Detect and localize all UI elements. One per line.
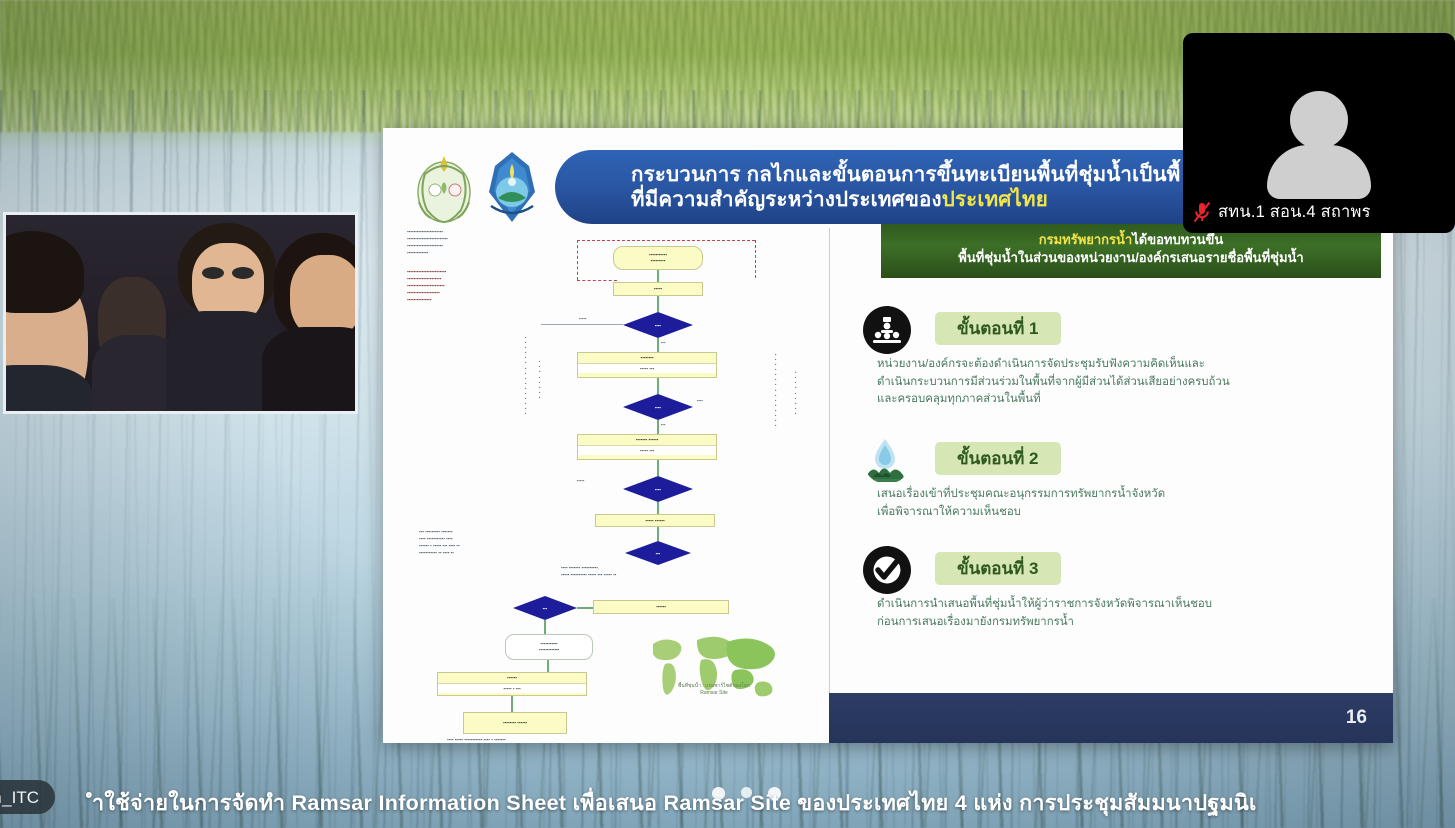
step-3-chip: ขั้นตอนที่ 3 — [935, 552, 1061, 585]
step-1-label: ขั้นตอนที่ 1 — [957, 315, 1039, 342]
flow-side-label-2: ▪▪▪▪▪ ▪▪▪ — [537, 308, 542, 400]
process-flowchart: ▪▪▪▪▪▪▪▪▪▪▪▪▪▪▪▪▪▪▪▪▪▪▪▪▪▪▪▪▪▪▪▪▪▪▪▪▪▪▪▪… — [401, 228, 821, 728]
flow-node-6: ▪▪▪▪▪▪ — [593, 600, 729, 614]
flow-label-no-2: ▪▪▪▪ — [697, 398, 703, 403]
water-droplet-wetland-icon — [863, 436, 911, 484]
flow-decision-4: ▪▪▪ — [625, 541, 691, 565]
flow-arrow-4 — [657, 378, 659, 394]
flow-dashed-top — [577, 240, 755, 241]
flow-node-8: ▪▪▪▪▪▪▪▪ ▪▪▪▪▪▪ — [463, 712, 567, 734]
flow-node-7: ▪▪▪▪▪▪ ▪▪▪▪▪ ▪ ▪▪▪ — [437, 672, 587, 696]
step-3-label: ขั้นตอนที่ 3 — [957, 555, 1039, 582]
flowchart-note-top: ▪▪▪▪▪▪▪▪▪▪▪▪▪▪▪▪▪▪▪▪▪▪▪▪▪▪▪▪▪▪▪▪▪▪▪▪▪▪▪▪… — [407, 228, 527, 256]
participant-name: สทน.1 สอน.4 สถาพร — [1218, 199, 1371, 225]
flow-label-yes-1: ▪▪▪ — [661, 340, 665, 345]
flowchart-note-top-red: ▪▪▪▪▪▪▪▪▪▪▪▪▪▪▪▪▪▪▪▪▪▪▪▪▪▪▪▪▪▪▪▪▪▪▪▪▪▪▪▪… — [407, 268, 527, 304]
flow-node-7-top: ▪▪▪▪▪▪ — [438, 673, 586, 684]
participant-footer: สทน.1 สอน.4 สถาพร — [1193, 199, 1371, 225]
slide-footer-bar: 16 — [829, 693, 1393, 743]
department-banner-highlight: กรมทรัพยากรน้ำ — [1039, 232, 1133, 247]
flow-node-2: ▪▪▪▪▪ — [613, 282, 703, 296]
flow-side-label-1: ▪▪▪▪▪▪▪▪▪▪ ▪▪▪▪▪▪ — [523, 304, 528, 416]
slide-title-line2-pre: ที่มีความสำคัญระหว่างประเทศของ — [631, 188, 942, 211]
step-2-body: เสนอเรื่องเข้าที่ประชุมคณะอนุกรรมการทรัพ… — [863, 486, 1381, 521]
attendee-3-glasses-left — [202, 267, 224, 279]
slide-page-number: 16 — [1346, 707, 1367, 729]
check-circle-icon — [863, 546, 911, 594]
attendee-4-shoulders — [262, 327, 358, 414]
flow-arrow-7 — [657, 502, 659, 514]
flow-decision-1: ▪▪▪▪ — [623, 312, 693, 338]
attendee-1-hair — [3, 231, 84, 313]
flow-arrow-11 — [547, 660, 549, 672]
step-1-body: หน่วยงาน/องค์กรจะต้องดำเนินการจัดประชุมร… — [863, 356, 1381, 409]
flow-arrow-6 — [657, 460, 659, 476]
attendee-3-glasses-right — [232, 267, 254, 279]
flow-node-7-bottom: ▪▪▪▪▪ ▪ ▪▪▪ — [438, 684, 586, 694]
flow-dashed-in — [577, 280, 617, 281]
flow-dashed-right — [755, 240, 756, 278]
ministry-natural-resources-emblem — [481, 148, 543, 228]
flow-arrow-1 — [657, 270, 659, 282]
flow-side-label-3: ▪▪▪▪▪▪▪▪ ▪▪▪▪▪▪▪ — [773, 308, 778, 428]
flow-side-label-4: ▪▪▪▪▪ ▪▪▪▪ — [793, 306, 798, 416]
step-2-header: ขั้นตอนที่ 2 — [863, 436, 1381, 484]
step-3-body: ดำเนินการนำเสนอพื้นที่ชุ่มน้ำให้ผู้ว่ารา… — [863, 596, 1381, 631]
step-2: ขั้นตอนที่ 2 เสนอเรื่องเข้าที่ประชุมคณะอ… — [863, 436, 1381, 521]
world-map-caption-line2: Ramsar Site — [639, 690, 789, 697]
flow-arrow-10 — [544, 620, 546, 634]
attendees-video-frame — [6, 215, 355, 411]
flow-node-start: ▪▪▪▪▪▪▪▪▪▪▪▪▪▪▪▪▪▪▪▪ — [613, 246, 703, 270]
caption-text: ำใช้จ่ายในการจัดทำ Ramsar Information Sh… — [92, 786, 1257, 820]
flow-arrow-9 — [577, 607, 593, 609]
flow-node-4: ▪▪▪▪▪▪▪ ▪▪▪▪▪▪ ▪▪▪▪▪ ▪▪▪ — [577, 434, 717, 460]
flow-label-no-1: ▪▪▪▪▪ — [579, 316, 586, 321]
flow-node-4-top: ▪▪▪▪▪▪▪ ▪▪▪▪▪▪ — [578, 435, 716, 446]
flowchart-note-left-mid: ▪▪▪ ▪▪▪▪▪▪▪▪▪ ▪▪▪▪▪▪▪▪▪▪▪ ▪▪▪▪▪▪▪▪▪▪▪ ▪▪… — [419, 528, 537, 556]
slide-column-divider — [829, 228, 830, 730]
microphone-muted-icon[interactable] — [1193, 201, 1211, 223]
avatar — [1263, 91, 1375, 199]
flow-arrow-2 — [657, 296, 659, 312]
department-banner-rest: ได้ขอทบทวนขึ้น — [1132, 232, 1223, 247]
department-banner-line2: พื้นที่ชุ่มน้ำในส่วนของหน่วยงาน/องค์กรเส… — [958, 250, 1303, 265]
step-2-label: ขั้นตอนที่ 2 — [957, 445, 1039, 472]
step-3-header: ขั้นตอนที่ 3 — [863, 546, 1381, 594]
flowchart-footnote: ▪▪▪▪ ▪▪▪▪▪ ▪▪▪▪▪▪▪▪▪▪▪ ▪▪▪▪ ▪ ▪▪▪▪▪▪▪ — [447, 736, 617, 743]
step-2-chip: ขั้นตอนที่ 2 — [935, 442, 1061, 475]
flow-arrow-8 — [657, 527, 659, 541]
flow-arrow-12 — [511, 696, 513, 712]
participant-tile-self[interactable]: สทน.1 สอน.4 สถาพร — [1183, 33, 1455, 233]
slide-title-line1: กระบวนการ กลไกและขั้นตอนการขึ้นทะเบียนพื… — [631, 163, 1180, 186]
caption-strip: ำใช้จ่ายในการจัดทำ Ramsar Information Sh… — [0, 770, 1455, 828]
flowchart-note-mid: ▪▪▪▪ ▪▪▪▪▪▪▪ ▪▪▪▪▪▪▪▪▪▪,▪▪▪▪▪ ▪▪▪▪▪▪▪▪▪▪… — [561, 564, 707, 578]
flow-node-3-top: ▪▪▪▪▪▪▪▪ — [578, 353, 716, 364]
step-3: ขั้นตอนที่ 3 ดำเนินการนำเสนอพื้นที่ชุ่มน… — [863, 546, 1381, 631]
flow-arrow-5 — [657, 420, 659, 434]
screen-share-viewport: กระบวนการ กลไกและขั้นตอนการขึ้นทะเบียนพื… — [0, 0, 1455, 828]
flow-line-left-1 — [541, 324, 623, 325]
flow-node-5: ▪▪▪▪▪ ▪▪▪▪▪▪ — [595, 514, 715, 527]
slide-title: กระบวนการ กลไกและขั้นตอนการขึ้นทะเบียนพื… — [631, 162, 1180, 212]
name-badge: รึกษา_ITC — [0, 780, 55, 814]
step-1-header: ขั้นตอนที่ 1 — [863, 306, 1381, 354]
flow-decision-3: ▪▪▪▪ — [623, 476, 693, 502]
flow-arrow-3 — [657, 338, 659, 352]
flow-dashed-left — [577, 240, 578, 280]
garuda-emblem — [413, 148, 475, 228]
flow-node-4-bottom: ▪▪▪▪▪ ▪▪▪ — [578, 446, 716, 456]
flow-node-3-bottom: ▪▪▪▪▪ ▪▪▪ — [578, 364, 716, 374]
flow-label-yes-2: ▪▪▪ — [661, 422, 665, 427]
avatar-head — [1290, 91, 1348, 149]
ministry-emblems — [409, 144, 549, 234]
flow-node-3: ▪▪▪▪▪▪▪▪ ▪▪▪▪▪ ▪▪▪ — [577, 352, 717, 378]
flow-label-no-3: ▪▪▪▪▪ — [577, 478, 584, 483]
world-map-caption: พื้นที่ชุ่มน้ำ : แรมซาร์ไซต์ของโลก Ramsa… — [639, 683, 789, 696]
step-1-chip: ขั้นตอนที่ 1 — [935, 312, 1061, 345]
flow-decision-2: ▪▪▪▪ — [623, 394, 693, 420]
flow-decision-5: ▪▪▪ — [513, 596, 577, 620]
slide-title-highlight: ประเทศไทย — [942, 188, 1048, 211]
flow-node-pill: ▪▪▪▪▪▪▪▪▪▪▪▪▪▪▪▪▪▪▪▪▪▪▪▪ — [505, 634, 593, 660]
avatar-body — [1267, 145, 1371, 199]
step-1: ขั้นตอนที่ 1 หน่วยงาน/องค์กรจะต้องดำเนิน… — [863, 306, 1381, 409]
attendees-video-thumbnail[interactable] — [3, 212, 358, 414]
people-group-icon — [863, 306, 911, 354]
